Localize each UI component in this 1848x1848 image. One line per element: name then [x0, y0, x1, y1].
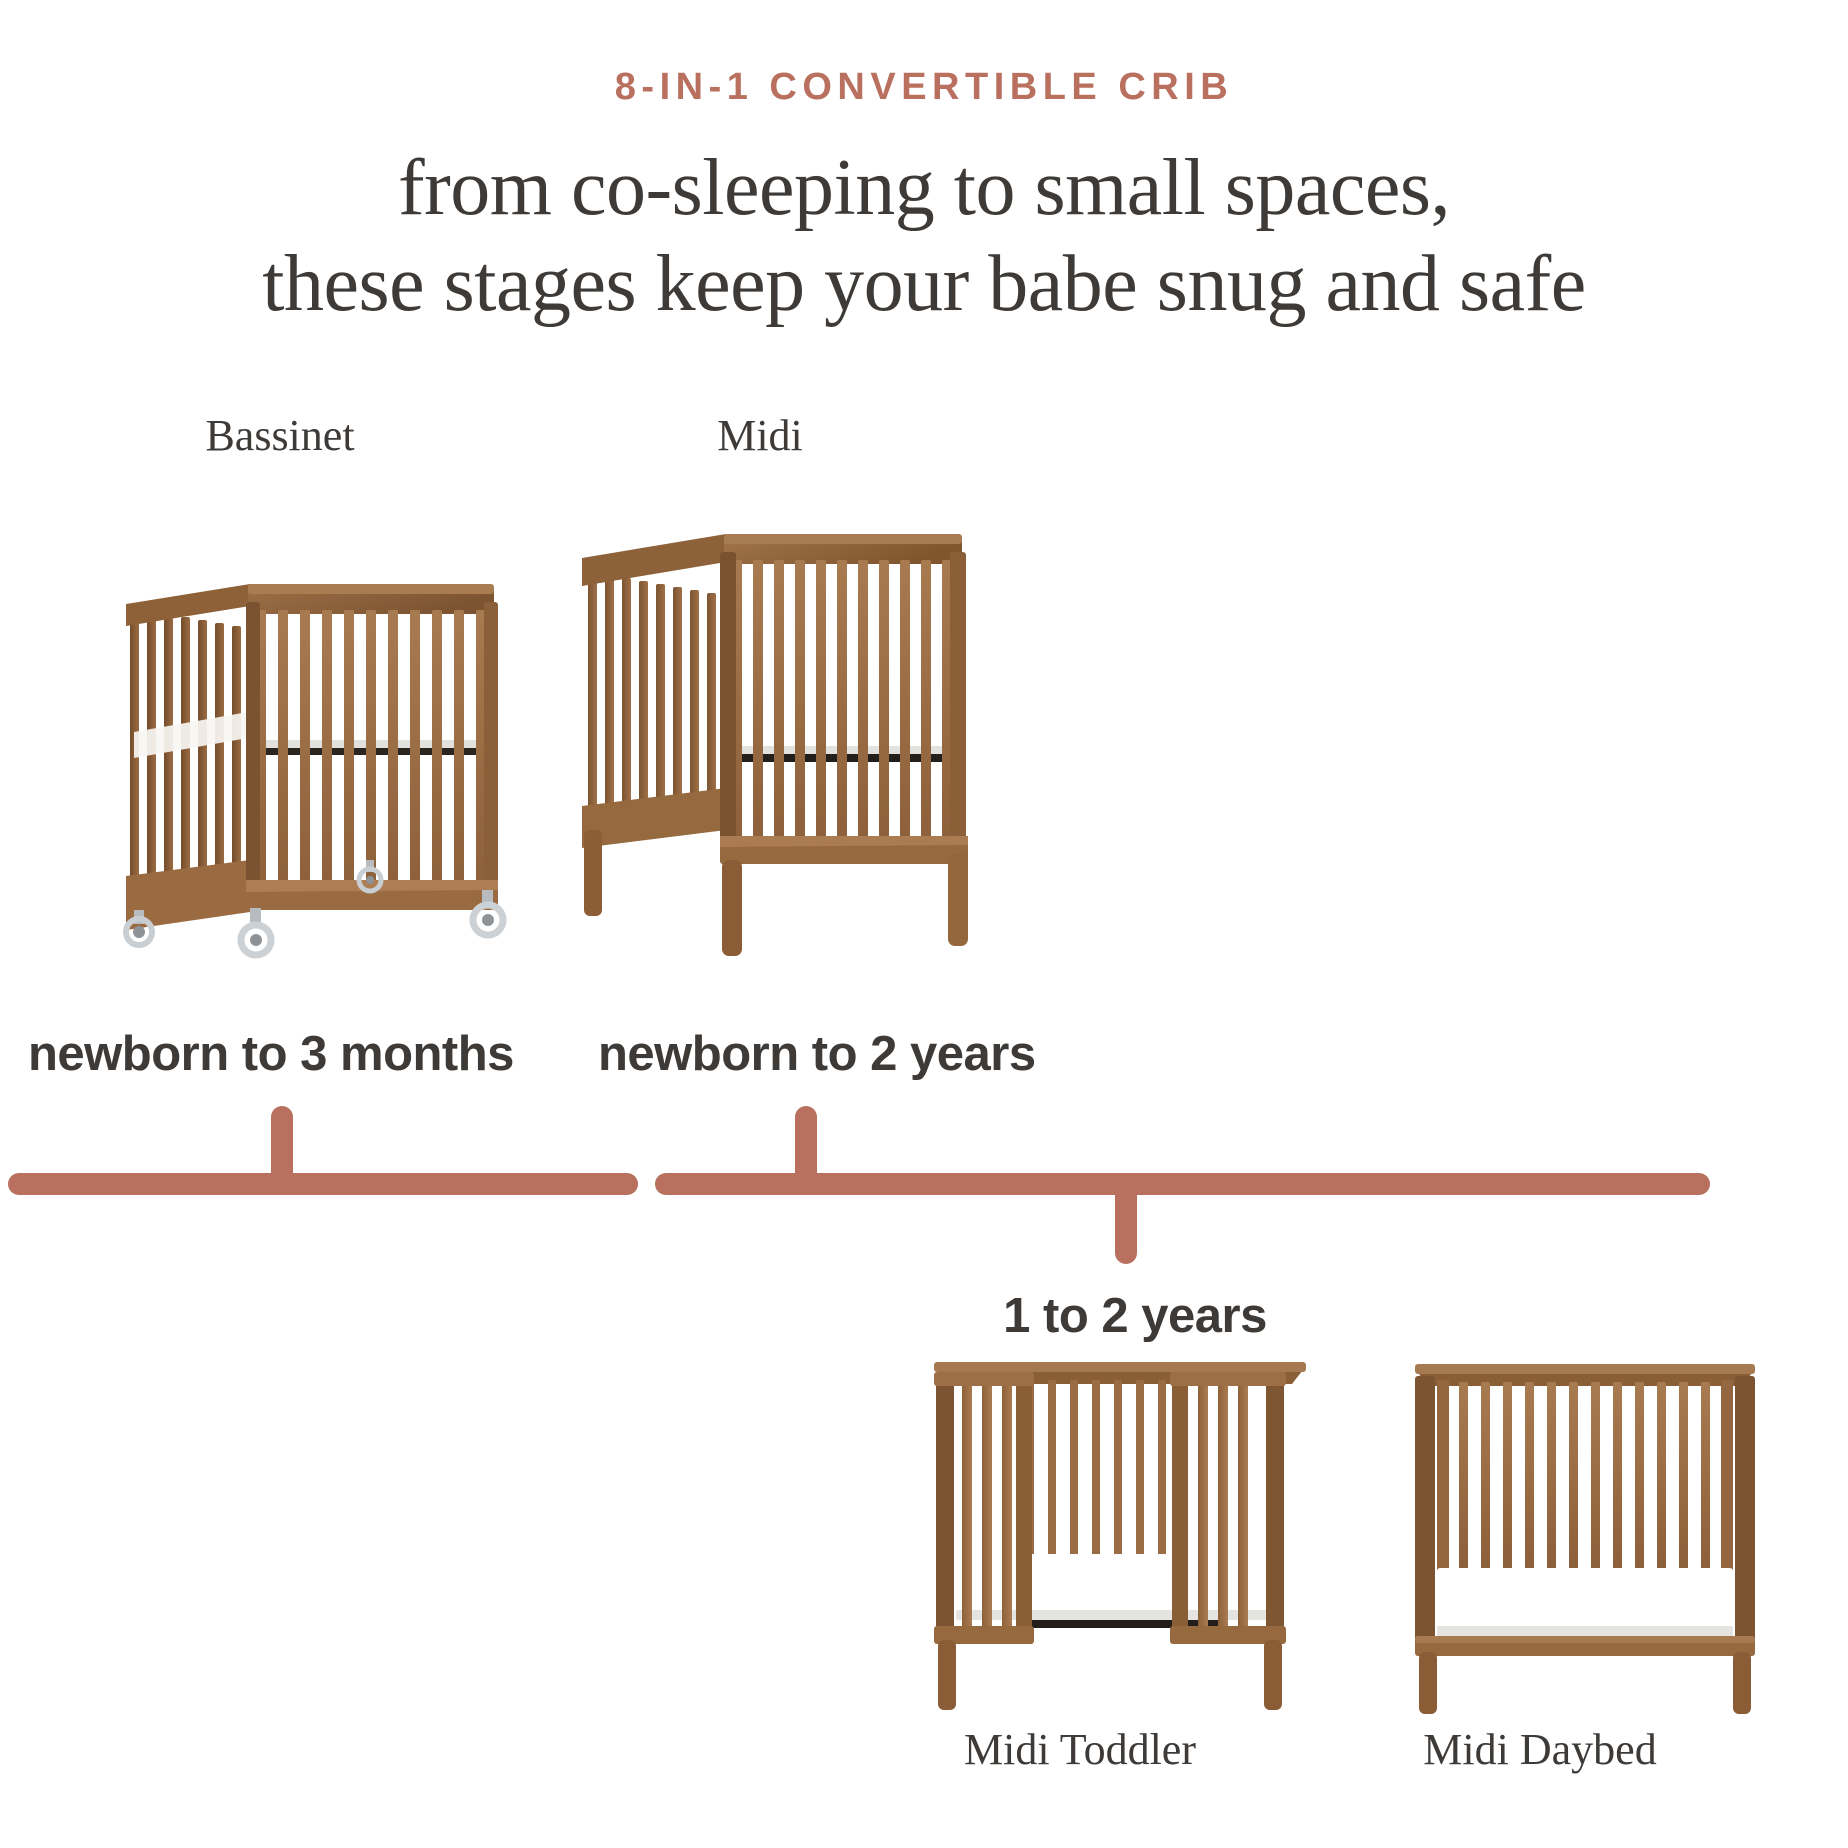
headline-line-1: from co-sleeping to small spaces, — [0, 140, 1848, 236]
stage-label-midi-daybed: Midi Daybed — [1340, 1726, 1740, 1774]
crib-illustration-bassinet — [100, 560, 530, 990]
age-label-toddler-group: 1 to 2 years — [0, 1288, 1848, 1344]
page-title: from co-sleeping to small spaces, these … — [0, 140, 1848, 332]
stage-label-bassinet: Bassinet — [80, 412, 480, 460]
connector-bar-right — [655, 1173, 1710, 1195]
eyebrow-text: 8-IN-1 CONVERTIBLE CRIB — [0, 66, 1848, 109]
crib-illustration-midi-toddler — [920, 1358, 1320, 1718]
stage-label-midi-toddler: Midi Toddler — [880, 1726, 1280, 1774]
stage-label-midi: Midi — [560, 412, 960, 460]
crib-illustration-midi — [550, 500, 990, 990]
age-label-bassinet: newborn to 3 months — [28, 1026, 514, 1082]
connector-stem-toddler-group — [1115, 1184, 1137, 1264]
crib-illustration-midi-daybed — [1385, 1358, 1785, 1718]
connector-bar-left — [8, 1173, 638, 1195]
age-label-midi: newborn to 2 years — [598, 1026, 1036, 1082]
headline-line-2: these stages keep your babe snug and saf… — [0, 236, 1848, 332]
